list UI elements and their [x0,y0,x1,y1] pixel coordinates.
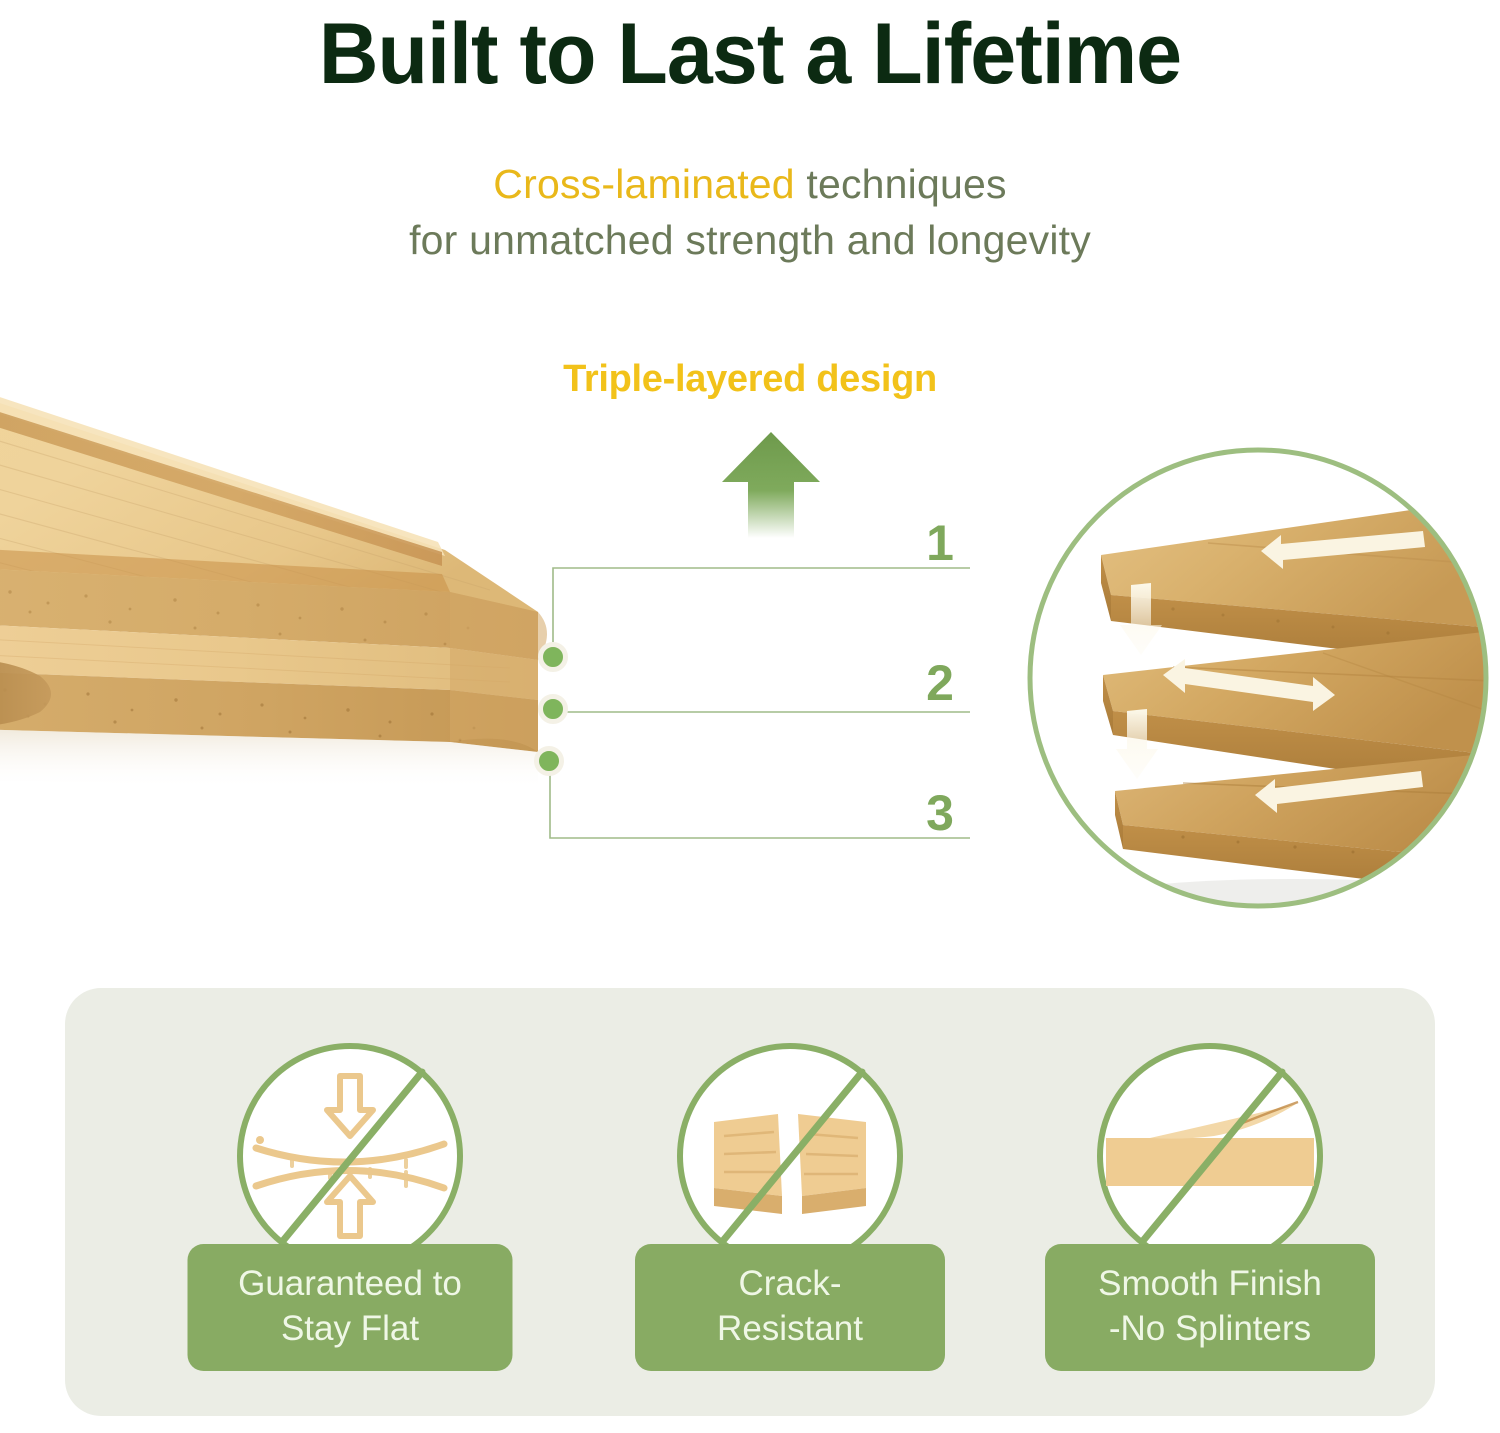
feature-label: Guaranteed to Stay Flat [188,1244,513,1371]
feature-guaranteed-flat: Guaranteed to Stay Flat [185,1036,515,1366]
layer-dot-1 [538,642,568,672]
layer-number-2: 2 [910,658,970,708]
subtitle-accent: Cross-laminated [493,161,795,207]
subtitle-rest: techniques [795,161,1007,207]
no-splinters-icon [1090,1036,1330,1276]
subtitle-line-1: Cross-laminated techniques [0,156,1500,212]
layer-dot-2 [538,694,568,724]
no-warping-icon [230,1036,470,1276]
page-title: Built to Last a Lifetime [30,2,1470,106]
subtitle-line-2: for unmatched strength and longevity [0,212,1500,268]
layer-dot-3 [534,746,564,776]
no-crack-icon [670,1036,910,1276]
feature-label: Crack- Resistant [635,1244,945,1371]
feature-crack-resistant: Crack- Resistant [625,1036,955,1366]
exploded-bamboo-layers-icon [1023,443,1493,913]
layer-number-1: 1 [910,518,970,568]
infographic-canvas: Built to Last a Lifetime Cross-laminated… [0,0,1500,1433]
layer-number-3: 3 [910,788,970,838]
feature-smooth-finish: Smooth Finish -No Splinters [1045,1036,1375,1366]
feature-label: Smooth Finish -No Splinters [1045,1244,1375,1371]
